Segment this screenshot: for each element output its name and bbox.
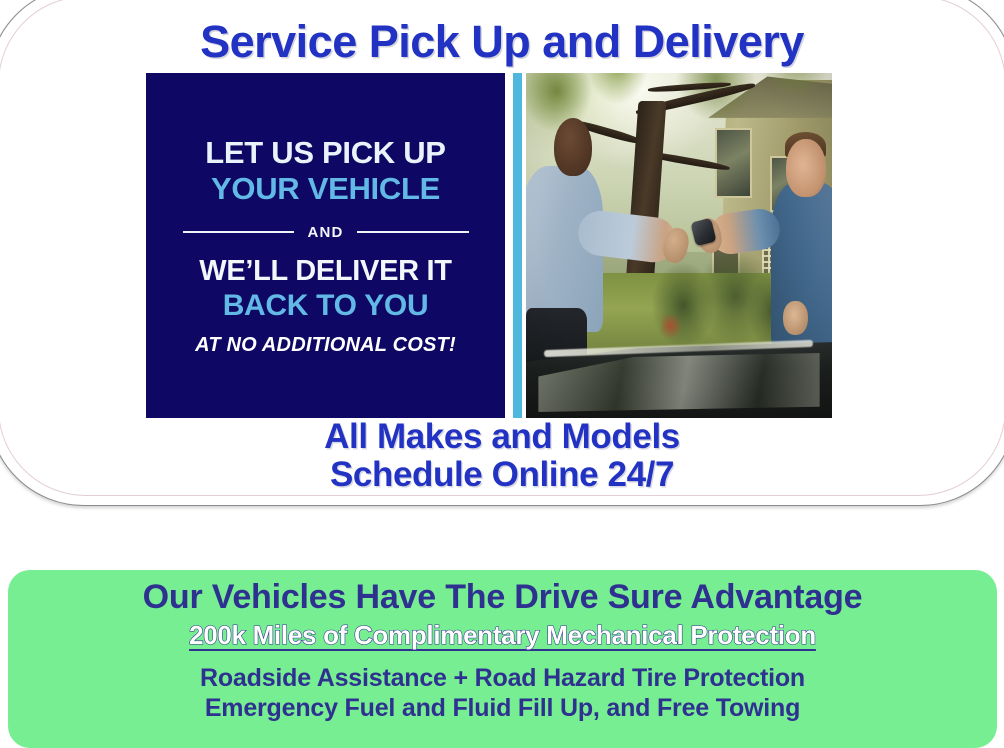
photo-person-left-head (554, 118, 592, 177)
promo-line-1: LET US PICK UP (205, 135, 445, 171)
promo-text-panel: LET US PICK UP YOUR VEHICLE AND WE’LL DE… (146, 73, 505, 418)
advantage-benefit-2: Emergency Fuel and Fluid Fill Up, and Fr… (8, 693, 997, 723)
promo-line-4: BACK TO YOU (223, 288, 429, 323)
subtitle-line-1: All Makes and Models (0, 418, 1004, 456)
promo-banner-image: LET US PICK UP YOUR VEHICLE AND WE’LL DE… (146, 73, 832, 418)
advantage-benefit-1: Roadside Assistance + Road Hazard Tire P… (8, 663, 997, 693)
promo-subtitle: All Makes and Models Schedule Online 24/… (0, 418, 1004, 494)
divider-rule-right (357, 231, 469, 234)
divider-label: AND (294, 224, 356, 241)
page-title: Service Pick Up and Delivery (0, 16, 1004, 68)
divider-rule-left (183, 231, 295, 234)
drive-sure-advantage-banner: Our Vehicles Have The Drive Sure Advanta… (8, 570, 997, 748)
panel-gap (505, 73, 513, 418)
advantage-headline: Our Vehicles Have The Drive Sure Advanta… (8, 577, 997, 617)
cyan-accent-stripe (513, 73, 522, 418)
advantage-subhead: 200k Miles of Complimentary Mechanical P… (8, 619, 997, 651)
promo-divider: AND (183, 224, 469, 241)
promo-line-2: YOUR VEHICLE (211, 171, 440, 207)
photo-person-right-head (786, 139, 826, 198)
promo-line-3: WE’LL DELIVER IT (199, 254, 451, 288)
subtitle-line-2: Schedule Online 24/7 (0, 456, 1004, 494)
key-handoff-photo (526, 73, 832, 418)
photo-person-right-hand-2 (783, 301, 807, 336)
promo-line-5: AT NO ADDITIONAL COST! (195, 333, 456, 357)
photo-accent-foliage (661, 315, 682, 339)
